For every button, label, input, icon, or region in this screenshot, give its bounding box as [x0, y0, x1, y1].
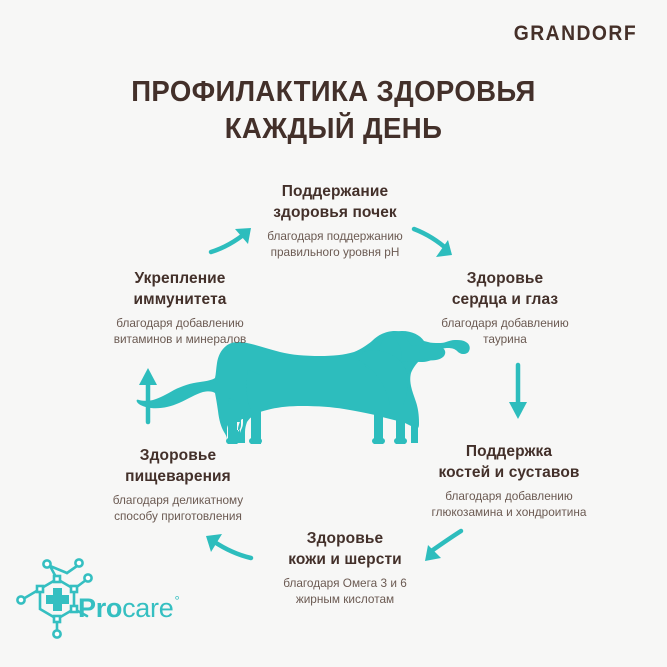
benefit-subtitle-line-1: благодаря поддержанию — [233, 228, 437, 244]
procare-word-light: care — [122, 593, 173, 623]
benefit-subtitle: благодаря добавлению таурина — [405, 315, 605, 347]
benefit-title-line-2: пищеварения — [78, 467, 278, 488]
benefit-title-line-2: сердца и глаз — [405, 290, 605, 311]
procare-word-bold: Pro — [78, 593, 122, 623]
benefit-title: Здоровье пищеварения — [78, 446, 278, 487]
benefit-title-line-1: Здоровье — [78, 446, 278, 467]
benefit-title: Здоровье сердца и глаз — [405, 269, 605, 310]
benefit-subtitle-line-1: благодаря добавлению — [80, 315, 280, 331]
benefit-subtitle-line-2: жирным кислотам — [245, 591, 445, 607]
benefit-subtitle-line-1: благодаря добавлению — [400, 488, 618, 504]
benefit-title: Здоровье кожи и шерсти — [245, 529, 445, 570]
benefit-title-line-1: Поддержание — [233, 182, 437, 203]
benefit-subtitle: благодаря деликатному способу приготовле… — [78, 492, 278, 524]
benefit-subtitle-line-2: витаминов и минералов — [80, 331, 280, 347]
benefit-block-heart-eyes: Здоровье сердца и глаз благодаря добавле… — [405, 269, 605, 348]
benefit-block-kidney: Поддержание здоровья почек благодаря под… — [233, 182, 437, 261]
benefit-title: Поддержка костей и суставов — [400, 442, 618, 483]
benefit-title-line-2: иммунитета — [80, 290, 280, 311]
benefit-subtitle-line-2: таурина — [405, 331, 605, 347]
benefit-title-line-1: Укрепление — [80, 269, 280, 290]
brand-logo-grandorf: GRANDORF — [514, 22, 637, 46]
benefit-title-line-1: Здоровье — [245, 529, 445, 550]
dog-silhouette-icon — [137, 331, 470, 444]
benefit-title-line-2: здоровья почек — [233, 203, 437, 224]
benefit-title-line-2: кожи и шерсти — [245, 550, 445, 571]
benefit-subtitle-line-1: благодаря Омега 3 и 6 — [245, 575, 445, 591]
procare-degree-mark: ° — [174, 593, 179, 608]
page-title: ПРОФИЛАКТИКА ЗДОРОВЬЯ КАЖДЫЙ ДЕНЬ — [17, 74, 651, 148]
benefit-title-line-1: Поддержка — [400, 442, 618, 463]
benefit-title-line-1: Здоровье — [405, 269, 605, 290]
procare-logo-wordmark: Procare° — [78, 595, 178, 622]
page-title-line-2: КАЖДЫЙ ДЕНЬ — [17, 111, 651, 148]
benefit-block-skin-coat: Здоровье кожи и шерсти благодаря Омега 3… — [245, 529, 445, 608]
benefit-title: Укрепление иммунитета — [80, 269, 280, 310]
benefit-subtitle-line-2: правильного уровня pH — [233, 244, 437, 260]
benefit-subtitle-line-1: благодаря добавлению — [405, 315, 605, 331]
benefit-subtitle: благодаря добавлению глюкозамина и хондр… — [400, 488, 618, 520]
infographic-page: GRANDORF ПРОФИЛАКТИКА ЗДОРОВЬЯ КАЖДЫЙ ДЕ… — [0, 0, 667, 667]
benefit-subtitle: благодаря добавлению витаминов и минерал… — [80, 315, 280, 347]
benefit-block-immunity: Укрепление иммунитета благодаря добавлен… — [80, 269, 280, 348]
benefit-subtitle-line-1: благодаря деликатному — [78, 492, 278, 508]
arrow-up-icon — [139, 368, 157, 422]
page-title-line-1: ПРОФИЛАКТИКА ЗДОРОВЬЯ — [17, 74, 651, 111]
benefit-block-digestion: Здоровье пищеварения благодаря деликатно… — [78, 446, 278, 525]
benefit-subtitle: благодаря поддержанию правильного уровня… — [233, 228, 437, 260]
benefit-title: Поддержание здоровья почек — [233, 182, 437, 223]
arrow-down-icon — [509, 365, 527, 419]
benefit-subtitle-line-2: способу приготовления — [78, 508, 278, 524]
benefit-block-bones-joints: Поддержка костей и суставов благодаря до… — [400, 442, 618, 521]
benefit-subtitle: благодаря Омега 3 и 6 жирным кислотам — [245, 575, 445, 607]
benefit-subtitle-line-2: глюкозамина и хондроитина — [400, 504, 618, 520]
benefit-title-line-2: костей и суставов — [400, 463, 618, 484]
